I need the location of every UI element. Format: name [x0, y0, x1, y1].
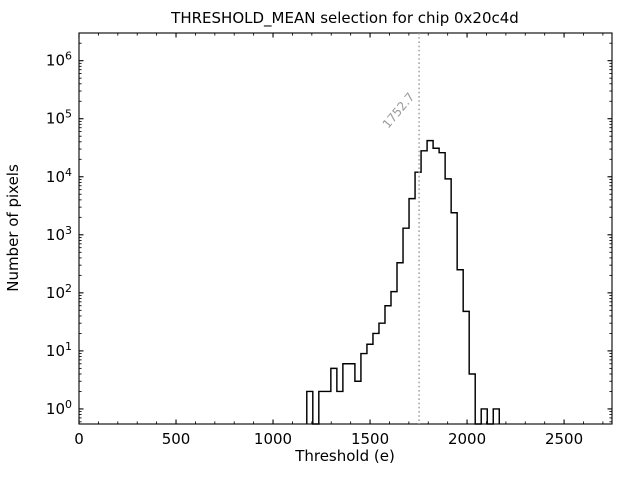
x-tick-label: 1500 — [351, 430, 389, 448]
y-axis-title: Number of pixels — [4, 164, 22, 292]
chart-title: THRESHOLD_MEAN selection for chip 0x20c4… — [170, 9, 519, 28]
axes-frame — [79, 33, 612, 424]
y-tick-label: 103 — [46, 224, 72, 244]
x-tick-label: 500 — [162, 430, 191, 448]
y-tick-label: 100 — [46, 398, 72, 418]
x-tick-label: 1000 — [254, 430, 292, 448]
histogram-chart: THRESHOLD_MEAN selection for chip 0x20c4… — [0, 0, 640, 480]
y-tick-label: 105 — [46, 108, 72, 128]
y-tick-label: 102 — [46, 282, 72, 302]
mean-threshold-annotation: 1752.7 — [380, 33, 419, 424]
x-axis-tick-labels: 05001000150020002500 — [74, 430, 583, 448]
x-tick-label: 2000 — [448, 430, 486, 448]
y-tick-label: 106 — [46, 50, 72, 70]
x-axis-ticks — [79, 33, 603, 424]
x-tick-label: 2500 — [545, 430, 583, 448]
mean-threshold-label: 1752.7 — [380, 90, 418, 131]
histogram-step-outline — [307, 141, 499, 424]
x-tick-label: 0 — [74, 430, 84, 448]
y-axis-ticks — [79, 33, 612, 424]
y-tick-label: 104 — [46, 166, 72, 186]
matplotlib-figure: THRESHOLD_MEAN selection for chip 0x20c4… — [0, 0, 640, 480]
y-axis-tick-labels: 100101102103104105106 — [46, 50, 72, 418]
x-axis-title: Threshold (e) — [294, 447, 395, 465]
y-tick-label: 101 — [46, 340, 72, 360]
